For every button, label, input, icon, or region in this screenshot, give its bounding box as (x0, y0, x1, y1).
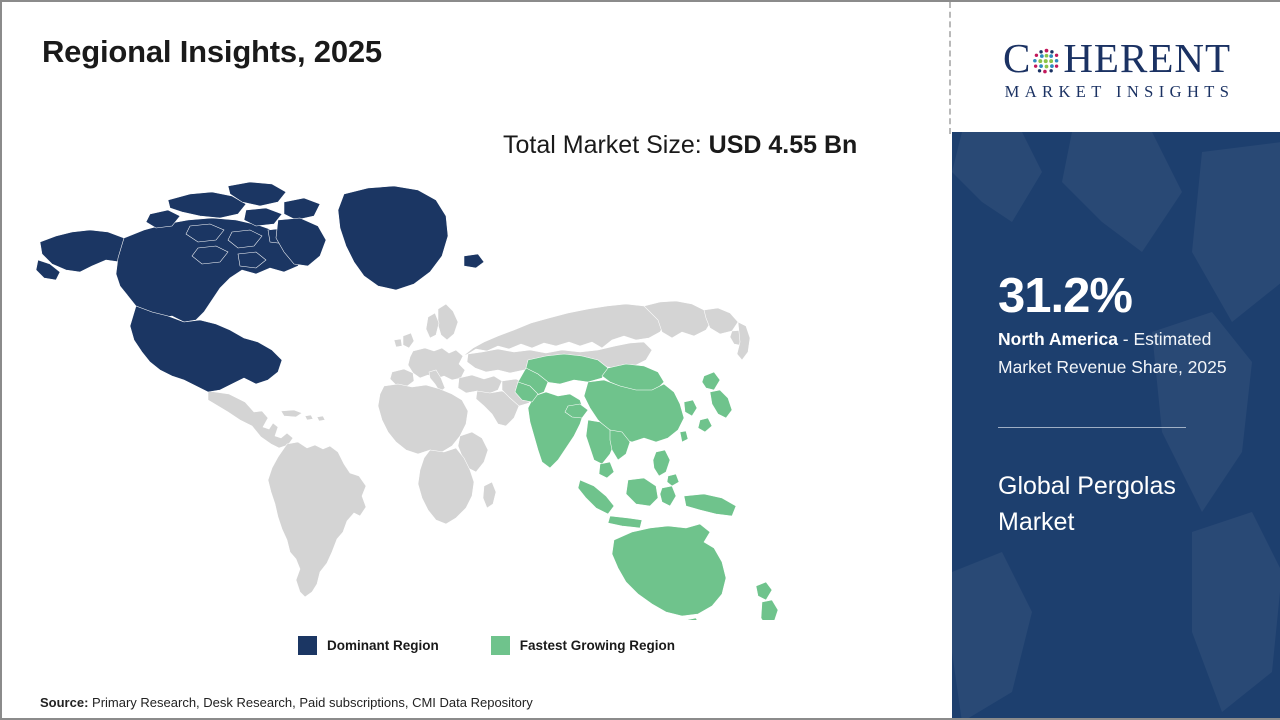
source-label: Source: (40, 695, 88, 710)
logo-wordmark: C (1003, 38, 1231, 79)
panel-map-watermark (952, 132, 1280, 720)
source-text: Primary Research, Desk Research, Paid su… (88, 695, 532, 710)
vertical-dashed-divider (949, 2, 951, 134)
total-market-size-label: Total Market Size: (503, 131, 709, 159)
total-market-size-value: USD 4.55 Bn (709, 131, 858, 159)
legend-label-dominant: Dominant Region (327, 638, 439, 653)
legend-item-dominant: Dominant Region (298, 636, 439, 655)
stat-percentage: 31.2% (998, 272, 1132, 321)
world-map (32, 180, 832, 620)
logo-tagline: MARKET INSIGHTS (1000, 82, 1235, 102)
stat-region-name: North America (998, 329, 1118, 349)
globe-dots-icon (1031, 43, 1062, 74)
market-name: Global Pergolas Market (998, 468, 1258, 541)
map-region-asia-pacific (515, 354, 778, 620)
highlight-panel: 31.2% North America - Estimated Market R… (952, 132, 1280, 720)
stat-description: North America - Estimated Market Revenue… (998, 325, 1268, 382)
left-content-pane: Regional Insights, 2025 Total Market Siz… (2, 2, 949, 720)
legend-item-fastest-growing: Fastest Growing Region (491, 636, 675, 655)
dominant-region-swatch (298, 636, 317, 655)
fastest-growing-region-swatch (491, 636, 510, 655)
total-market-size: Total Market Size: USD 4.55 Bn (503, 126, 895, 166)
source-line: Source: Primary Research, Desk Research,… (40, 695, 533, 710)
coherent-market-insights-logo: C (1000, 32, 1235, 102)
logo-area: C (952, 2, 1280, 132)
panel-divider-rule (998, 427, 1186, 428)
page-title: Regional Insights, 2025 (42, 34, 382, 70)
legend-label-fastest-growing: Fastest Growing Region (520, 638, 675, 653)
map-legend: Dominant Region Fastest Growing Region (298, 636, 675, 655)
logo-wordmark-rest: HERENT (1063, 38, 1231, 79)
infographic-canvas: Regional Insights, 2025 Total Market Siz… (0, 0, 1280, 720)
logo-letter-c: C (1003, 38, 1031, 79)
